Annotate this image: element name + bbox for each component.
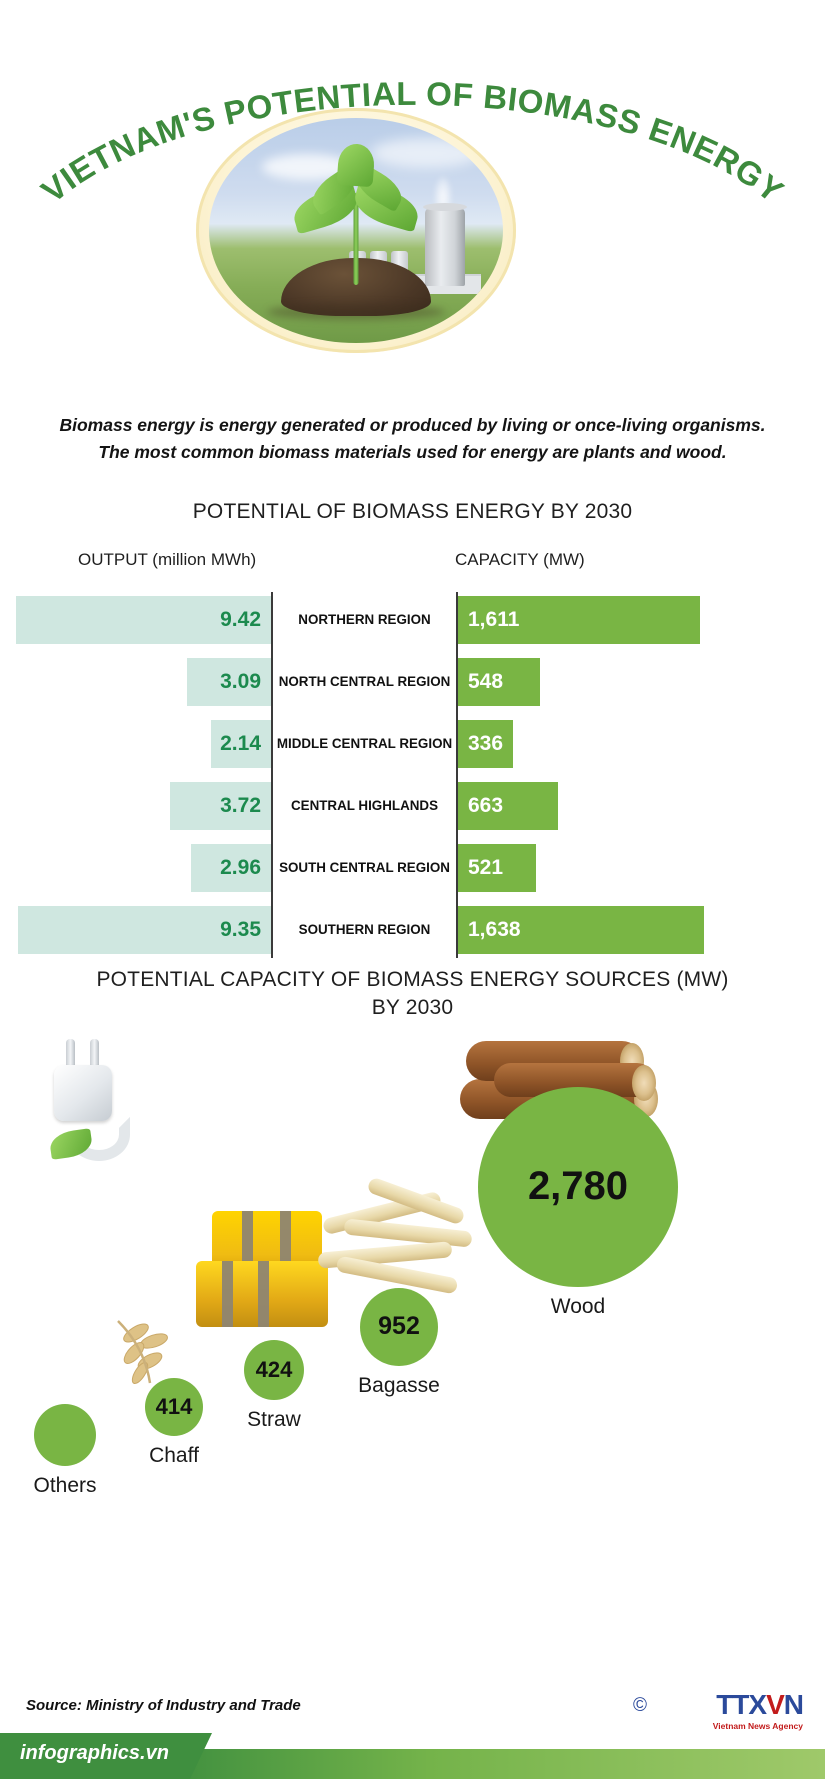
column-header-output: OUTPUT (million MWh) (78, 550, 256, 570)
plug-body (54, 1065, 112, 1121)
bar-chart-column-headers: OUTPUT (million MWh) CAPACITY (MW) (0, 550, 825, 586)
bubble-wood: 2,780 (478, 1087, 678, 1287)
section-2-title: POTENTIAL CAPACITY OF BIOMASS ENERGY SOU… (0, 966, 825, 1021)
region-label: MIDDLE CENTRAL REGION (273, 716, 456, 772)
capacity-bar: 336 (458, 720, 513, 768)
bubble-label-others: Others (33, 1474, 96, 1498)
output-value: 3.72 (220, 794, 261, 818)
region-label: SOUTHERN REGION (273, 902, 456, 958)
source-text: Source: Ministry of Industry and Trade (26, 1697, 301, 1714)
capacity-value: 548 (468, 670, 503, 694)
bubble-label-wood: Wood (551, 1295, 605, 1319)
region-label: NORTHERN REGION (273, 592, 456, 648)
bar-chart-row: 9.35SOUTHERN REGION1,638 (0, 902, 825, 958)
subtitle: Biomass energy is energy generated or pr… (34, 412, 791, 466)
bubble-straw: 424 (244, 1340, 304, 1400)
sprout-icon (337, 142, 376, 186)
bubble-value: 414 (156, 1394, 193, 1420)
bubble-chaff: 414 (145, 1378, 203, 1436)
footer: Source: Ministry of Industry and Trade ©… (0, 1669, 825, 1779)
bar-chart-row: 9.42NORTHERN REGION1,611 (0, 592, 825, 648)
bar-chart: 9.42NORTHERN REGION1,6113.09NORTH CENTRA… (0, 592, 825, 958)
subtitle-line-2: The most common biomass materials used f… (34, 439, 791, 466)
bar-chart-row: 3.72CENTRAL HIGHLANDS663 (0, 778, 825, 834)
bale-strap (222, 1261, 233, 1327)
bubble-bagasse: 952 (360, 1288, 438, 1366)
bubble-others (34, 1404, 96, 1466)
region-label: CENTRAL HIGHLANDS (273, 778, 456, 834)
output-value: 9.35 (220, 918, 261, 942)
bar-chart-row: 2.14MIDDLE CENTRAL REGION336 (0, 716, 825, 772)
output-bar: 3.72 (170, 782, 271, 830)
output-bar: 9.42 (16, 596, 271, 644)
infographic-page: VIETNAM'S POTENTIAL OF BIOMASS ENERGY (0, 0, 825, 1779)
subtitle-line-1: Biomass energy is energy generated or pr… (34, 412, 791, 439)
factory-icon (425, 208, 465, 286)
region-label: SOUTH CENTRAL REGION (273, 840, 456, 896)
bale-bottom (196, 1261, 328, 1327)
bubble-value: 2,780 (528, 1164, 628, 1209)
output-value: 3.09 (220, 670, 261, 694)
capacity-value: 663 (468, 794, 503, 818)
capacity-bar: 548 (458, 658, 540, 706)
capacity-bar: 521 (458, 844, 536, 892)
capacity-value: 336 (468, 732, 503, 756)
capacity-value: 1,638 (468, 918, 521, 942)
bar-chart-row: 3.09NORTH CENTRAL REGION548 (0, 654, 825, 710)
bubble-value: 952 (378, 1312, 420, 1341)
section-2-title-line-1: POTENTIAL CAPACITY OF BIOMASS ENERGY SOU… (0, 966, 825, 993)
bubble-chart: Others414Chaff424Straw952Bagasse2,780Woo… (0, 1025, 825, 1565)
output-bar: 3.09 (187, 658, 271, 706)
output-value: 9.42 (220, 608, 261, 632)
bubble-label-straw: Straw (247, 1408, 301, 1432)
bale-strap (258, 1261, 269, 1327)
straw-bale-icon (190, 1205, 336, 1335)
log-end (632, 1065, 656, 1101)
ttxvn-v: V (766, 1689, 784, 1720)
output-bar: 2.14 (211, 720, 271, 768)
output-bar: 9.35 (18, 906, 271, 954)
hero-section: VIETNAM'S POTENTIAL OF BIOMASS ENERGY (0, 0, 825, 400)
bar-chart-row: 2.96SOUTH CENTRAL REGION521 (0, 840, 825, 896)
output-value: 2.96 (220, 856, 261, 880)
section-2-title-line-2: BY 2030 (0, 994, 825, 1021)
column-header-capacity: CAPACITY (MW) (455, 550, 585, 570)
ttxvn-logo: TTXVN Vietnam News Agency (713, 1691, 803, 1731)
section-1-title: POTENTIAL OF BIOMASS ENERGY BY 2030 (0, 500, 825, 524)
region-label: NORTH CENTRAL REGION (273, 654, 456, 710)
electric-plug-icon (28, 1039, 168, 1159)
output-value: 2.14 (220, 732, 261, 756)
bubble-label-bagasse: Bagasse (358, 1374, 440, 1398)
site-name[interactable]: infographics.vn (20, 1742, 169, 1765)
capacity-bar: 1,638 (458, 906, 704, 954)
capacity-bar: 1,611 (458, 596, 700, 644)
capacity-bar: 663 (458, 782, 558, 830)
ttxvn-wordmark: TTXVN (713, 1691, 803, 1719)
capacity-value: 521 (468, 856, 503, 880)
bubble-label-chaff: Chaff (149, 1444, 199, 1468)
hero-image (196, 108, 516, 353)
hero-image-photo (209, 118, 503, 343)
ttxvn-tagline: Vietnam News Agency (713, 1721, 803, 1731)
cloud-icon (371, 138, 481, 168)
output-bar: 2.96 (191, 844, 271, 892)
bubble-value: 424 (256, 1357, 293, 1383)
copyright-icon: © (633, 1695, 647, 1717)
capacity-value: 1,611 (468, 608, 519, 632)
